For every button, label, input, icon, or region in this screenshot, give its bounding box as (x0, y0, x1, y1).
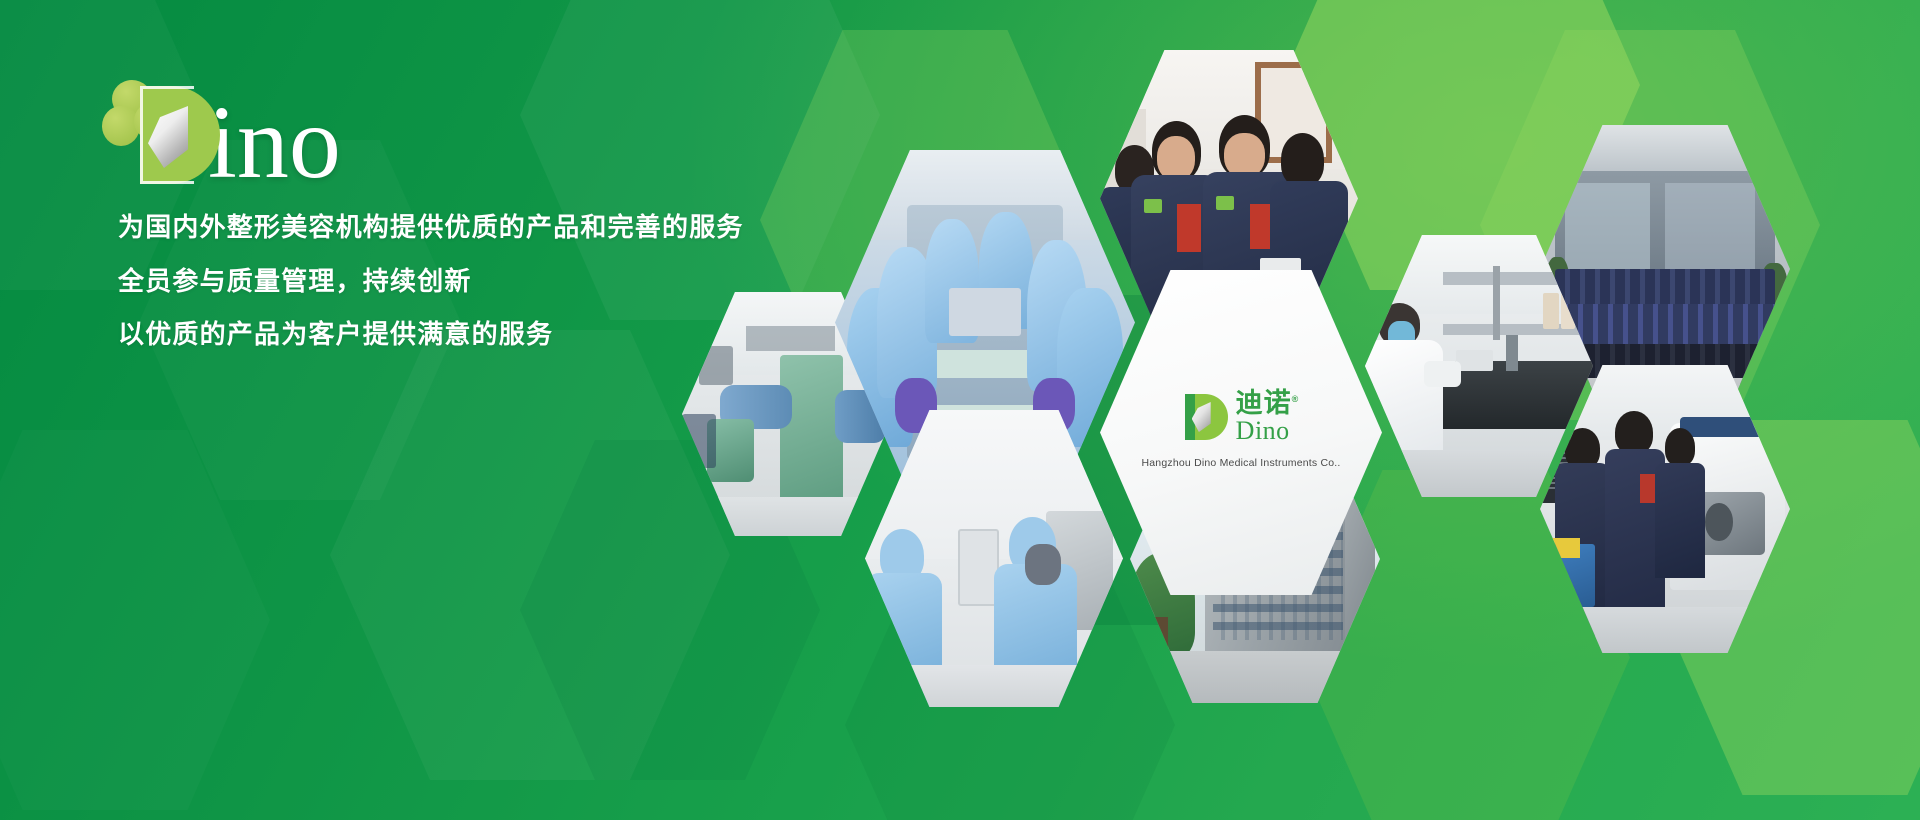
company-name-caption: Hangzhou Dino Medical Instruments Co.. (1141, 457, 1340, 469)
brand-wordmark: ino (118, 80, 341, 190)
tagline-list: 为国内外整形美容机构提供优质的产品和完善的服务 全员参与质量管理，持续创新 以优… (118, 212, 744, 352)
letter-d-icon (118, 80, 214, 190)
brand-wordmark-text: ino (208, 101, 341, 184)
tagline-1: 为国内外整形美容机构提供优质的产品和完善的服务 (118, 212, 744, 245)
center-logo-chinese: 迪诺® (1236, 390, 1300, 417)
brand-logo: ino (96, 66, 516, 186)
photo-hexagon-cluster: 迪诺® Dino Hangzhou Dino Medical Instrumen… (660, 20, 1920, 620)
tagline-3: 以优质的产品为客户提供满意的服务 (118, 319, 744, 352)
photo-hex-cnc-machining-floor (1540, 365, 1790, 653)
hero-banner: ino 为国内外整形美容机构提供优质的产品和完善的服务 全员参与质量管理，持续创… (0, 0, 1920, 820)
dino-mark-icon (1183, 392, 1229, 442)
tagline-2: 全员参与质量管理，持续创新 (118, 266, 744, 299)
registered-mark-icon: ® (1292, 394, 1300, 404)
background-hexagon (0, 430, 270, 810)
center-logo-english: Dino (1236, 418, 1290, 444)
center-logo: 迪诺® Dino (1183, 390, 1300, 444)
